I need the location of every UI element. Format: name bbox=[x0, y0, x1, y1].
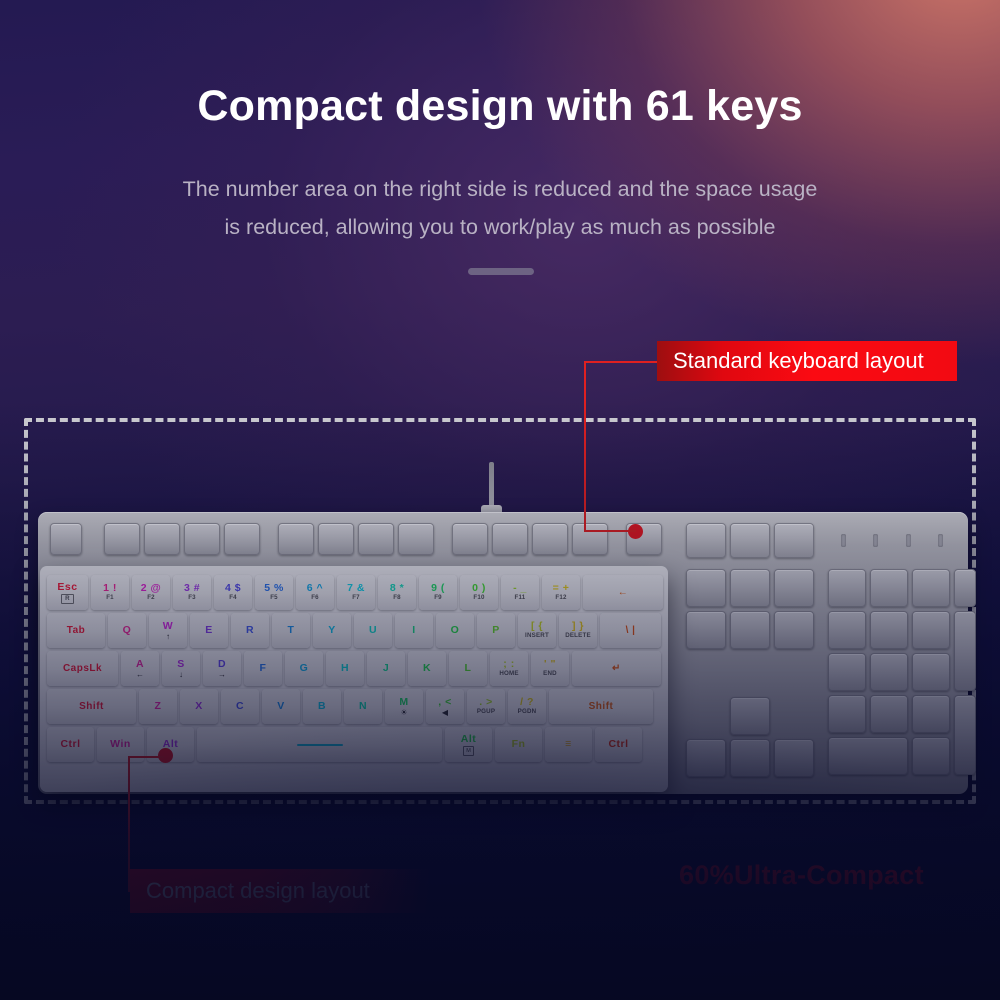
row-caps: CapsLkA←S↓D→FGHJKL; :HOME' "END↵ bbox=[47, 651, 661, 686]
leader-line-standard-vertical bbox=[584, 362, 586, 532]
key-space[interactable]: ← bbox=[583, 575, 663, 610]
gray-key-blank bbox=[318, 523, 354, 555]
key-ctrl[interactable]: Ctrl bbox=[595, 727, 642, 762]
gray-key-blank bbox=[730, 523, 770, 558]
key-primary-label: A bbox=[136, 659, 144, 670]
key-secondary-label: END bbox=[543, 670, 557, 678]
key-primary-label: [ { bbox=[531, 621, 543, 632]
key-shift[interactable]: Shift bbox=[47, 689, 136, 724]
key-primary-label: ≡ bbox=[565, 739, 572, 750]
numpad-key bbox=[870, 611, 908, 649]
key-primary-label: T bbox=[288, 625, 295, 636]
key-b[interactable]: B bbox=[303, 689, 341, 724]
numpad-key bbox=[912, 653, 950, 691]
key-primary-label: M bbox=[399, 697, 408, 708]
key-z[interactable]: Z bbox=[139, 689, 177, 724]
key-secondary-label: PGDN bbox=[518, 708, 537, 716]
numpad-key bbox=[912, 569, 950, 607]
key-secondary-label: PGUP bbox=[477, 708, 495, 716]
key-primary-label: P bbox=[492, 625, 500, 636]
gray-key-blank bbox=[774, 569, 814, 607]
key-5[interactable]: 5 %F5 bbox=[255, 575, 293, 610]
key-primary-label: ; : bbox=[503, 659, 514, 670]
key-i[interactable]: I bbox=[395, 613, 433, 648]
key-secondary-label: R bbox=[61, 594, 74, 604]
leader-line-standard-horizontal bbox=[584, 361, 659, 363]
key-1[interactable]: 1 !F1 bbox=[91, 575, 129, 610]
key-r[interactable]: R bbox=[231, 613, 269, 648]
led-indicator bbox=[873, 534, 878, 547]
key-k[interactable]: K bbox=[408, 651, 446, 686]
numpad-key-enter bbox=[954, 695, 976, 775]
callout-standard-keyboard-layout[interactable]: Standard keyboard layout bbox=[657, 341, 957, 381]
gray-key-blank bbox=[184, 523, 220, 555]
key-primary-label: 8 * bbox=[390, 583, 404, 594]
key-primary-label: I bbox=[412, 625, 415, 636]
key-ctrl[interactable]: Ctrl bbox=[47, 727, 94, 762]
gray-key-blank bbox=[358, 523, 394, 555]
gray-key-blank bbox=[686, 569, 726, 607]
key-secondary-label: F4 bbox=[229, 594, 237, 602]
page-subtitle: The number area on the right side is red… bbox=[0, 170, 1000, 246]
key-primary-label: W bbox=[163, 621, 173, 632]
gray-key-blank bbox=[532, 523, 568, 555]
key-8[interactable]: 8 *F8 bbox=[378, 575, 416, 610]
subtitle-line-1: The number area on the right side is red… bbox=[0, 170, 1000, 208]
key-space[interactable]: ↵ bbox=[572, 651, 661, 686]
key-primary-label: N bbox=[359, 701, 367, 712]
led-indicator bbox=[841, 534, 846, 547]
key-l[interactable]: L bbox=[449, 651, 487, 686]
key-2[interactable]: 2 @F2 bbox=[132, 575, 170, 610]
key-primary-label: - _ bbox=[513, 583, 527, 594]
key-primary-label: Tab bbox=[67, 625, 86, 636]
key-primary-label: ' " bbox=[544, 659, 556, 670]
gray-key-blank bbox=[730, 569, 770, 607]
key-boxed-sublabel: M bbox=[463, 746, 474, 756]
key-primary-label: D bbox=[218, 659, 226, 670]
keycap-grid: EscR1 !F12 @F23 #F34 $F45 %F56 ^F67 &F78… bbox=[47, 573, 661, 785]
numpad-key bbox=[828, 569, 866, 607]
ultra-compact-label: 60%Ultra-Compact bbox=[679, 860, 924, 891]
key-primary-label: K bbox=[423, 663, 431, 674]
key-secondary-label: F1 bbox=[106, 594, 114, 602]
key-o[interactable]: O bbox=[436, 613, 474, 648]
key-space[interactable]: . >PGUP bbox=[467, 689, 505, 724]
gray-key-arrow-right bbox=[774, 739, 814, 777]
gray-key-blank bbox=[50, 523, 82, 555]
key-primary-label: Alt bbox=[461, 734, 477, 745]
key-tab[interactable]: Tab bbox=[47, 613, 105, 648]
key-space[interactable]: ' "END bbox=[531, 651, 569, 686]
callout-compact-label: Compact design layout bbox=[146, 878, 370, 904]
key-t[interactable]: T bbox=[272, 613, 310, 648]
key-g[interactable]: G bbox=[285, 651, 323, 686]
key-h[interactable]: H bbox=[326, 651, 364, 686]
gray-key-blank bbox=[144, 523, 180, 555]
key-primary-label: R bbox=[246, 625, 254, 636]
compact-61-key-keyboard: EscR1 !F12 @F23 #F34 $F45 %F56 ^F67 &F78… bbox=[40, 566, 668, 792]
key-space[interactable]: ≡ bbox=[545, 727, 592, 762]
key-space[interactable]: ] }DELETE bbox=[559, 613, 597, 648]
key-space[interactable]: \ | bbox=[600, 613, 661, 648]
gray-key-blank bbox=[452, 523, 488, 555]
gray-key-blank bbox=[224, 523, 260, 555]
key-secondary-label: F9 bbox=[434, 594, 442, 602]
key-space[interactable]: = +F12 bbox=[542, 575, 580, 610]
key-m[interactable]: M☀ bbox=[385, 689, 423, 724]
key-primary-label: J bbox=[383, 663, 389, 674]
product-marketing-image: Compact design with 61 keys The number a… bbox=[0, 0, 1000, 1000]
key-4[interactable]: 4 $F4 bbox=[214, 575, 252, 610]
key-primary-label: U bbox=[369, 625, 377, 636]
key-e[interactable]: E bbox=[190, 613, 228, 648]
key-secondary-label: F6 bbox=[311, 594, 319, 602]
numpad-key bbox=[870, 653, 908, 691]
key-9[interactable]: 9 (F9 bbox=[419, 575, 457, 610]
row-shift: ShiftZXCVBNM☀, <◀. >PGUP/ ?PGDNShift bbox=[47, 689, 653, 724]
row-number: EscR1 !F12 @F23 #F34 $F45 %F56 ^F67 &F78… bbox=[47, 575, 663, 610]
key-primary-label: L bbox=[465, 663, 472, 674]
key-u[interactable]: U bbox=[354, 613, 392, 648]
key-space[interactable]: / ?PGDN bbox=[508, 689, 546, 724]
key-6[interactable]: 6 ^F6 bbox=[296, 575, 334, 610]
key-primary-label: B bbox=[318, 701, 326, 712]
gray-key-arrow-left bbox=[686, 739, 726, 777]
numpad-key-zero bbox=[828, 737, 908, 775]
numpad-key bbox=[954, 569, 976, 607]
key-secondary-label: F5 bbox=[270, 594, 278, 602]
key-space[interactable]: [ {INSERT bbox=[518, 613, 556, 648]
spacebar-indicator bbox=[297, 744, 343, 746]
key-secondary-label: INSERT bbox=[525, 632, 549, 640]
key-secondary-glyph: ☀ bbox=[400, 708, 407, 717]
numpad-key bbox=[828, 695, 866, 733]
numpad-key bbox=[870, 695, 908, 733]
key-secondary-label: F8 bbox=[393, 594, 401, 602]
key-q[interactable]: Q bbox=[108, 613, 146, 648]
key-w[interactable]: W↑ bbox=[149, 613, 187, 648]
key-primary-label: V bbox=[277, 701, 285, 712]
key-primary-label: Ctrl bbox=[60, 739, 80, 750]
led-indicator bbox=[906, 534, 911, 547]
key-space[interactable] bbox=[197, 727, 442, 762]
callout-compact-design-layout[interactable]: Compact design layout bbox=[130, 869, 430, 913]
key-secondary-label: DELETE bbox=[565, 632, 591, 640]
key-primary-label: S bbox=[177, 659, 185, 670]
key-a[interactable]: A← bbox=[121, 651, 159, 686]
key-primary-label: ← bbox=[618, 587, 629, 598]
key-secondary-glyph: → bbox=[218, 670, 226, 679]
key-primary-label: 2 @ bbox=[141, 583, 162, 594]
numpad-key-dot bbox=[912, 737, 950, 775]
numpad-key bbox=[912, 695, 950, 733]
key-primary-label: . > bbox=[479, 697, 492, 708]
numpad-key bbox=[912, 611, 950, 649]
key-3[interactable]: 3 #F3 bbox=[173, 575, 211, 610]
gray-key-blank bbox=[774, 523, 814, 558]
key-secondary-label: F7 bbox=[352, 594, 360, 602]
led-indicator bbox=[938, 534, 943, 547]
key-primary-label: 6 ^ bbox=[307, 583, 323, 594]
gray-key-blank bbox=[774, 611, 814, 649]
key-primary-label: Q bbox=[123, 625, 132, 636]
gray-key-blank bbox=[572, 523, 608, 555]
key-y[interactable]: Y bbox=[313, 613, 351, 648]
key-secondary-label: F2 bbox=[147, 594, 155, 602]
key-fn[interactable]: Fn bbox=[495, 727, 542, 762]
key-primary-label: Win bbox=[110, 739, 131, 750]
key-primary-label: / ? bbox=[520, 697, 534, 708]
key-secondary-label: F10 bbox=[473, 594, 484, 602]
key-v[interactable]: V bbox=[262, 689, 300, 724]
key-secondary-glyph: ← bbox=[136, 670, 144, 679]
key-0[interactable]: 0 )F10 bbox=[460, 575, 498, 610]
key-n[interactable]: N bbox=[344, 689, 382, 724]
numpad-key bbox=[828, 611, 866, 649]
gray-key-blank bbox=[492, 523, 528, 555]
key-secondary-glyph: ↑ bbox=[166, 632, 170, 641]
key-primary-label: C bbox=[236, 701, 244, 712]
key-space[interactable]: - _F11 bbox=[501, 575, 539, 610]
key-primary-label: Y bbox=[328, 625, 336, 636]
key-s[interactable]: S↓ bbox=[162, 651, 200, 686]
key-f[interactable]: F bbox=[244, 651, 282, 686]
key-c[interactable]: C bbox=[221, 689, 259, 724]
key-primary-label: 7 & bbox=[347, 583, 365, 594]
gray-key-arrow-down bbox=[730, 739, 770, 777]
leader-line-standard-to-dot bbox=[584, 530, 636, 532]
gray-key-arrow-up bbox=[730, 697, 770, 735]
key-capslk[interactable]: CapsLk bbox=[47, 651, 118, 686]
gray-key-blank bbox=[398, 523, 434, 555]
leader-line-compact-to-dot bbox=[128, 756, 164, 758]
key-primary-label: , < bbox=[438, 697, 451, 708]
key-x[interactable]: X bbox=[180, 689, 218, 724]
key-primary-label: X bbox=[195, 701, 203, 712]
gray-key-blank bbox=[730, 611, 770, 649]
key-d[interactable]: D→ bbox=[203, 651, 241, 686]
numpad-key bbox=[870, 569, 908, 607]
key-primary-label: 5 % bbox=[264, 583, 284, 594]
key-primary-label: Z bbox=[155, 701, 162, 712]
gray-key-blank bbox=[686, 611, 726, 649]
key-primary-label: ↵ bbox=[612, 663, 621, 674]
key-secondary-glyph: ↓ bbox=[179, 670, 183, 679]
key-space[interactable]: ; :HOME bbox=[490, 651, 528, 686]
key-secondary-label: F11 bbox=[515, 594, 526, 602]
key-space[interactable]: , <◀ bbox=[426, 689, 464, 724]
key-primary-label: 0 ) bbox=[472, 583, 486, 594]
key-primary-label: Shift bbox=[79, 701, 104, 712]
key-secondary-label: F12 bbox=[555, 594, 566, 602]
marker-dot-standard-layout bbox=[628, 524, 643, 539]
key-primary-label: G bbox=[300, 663, 309, 674]
key-primary-label: Fn bbox=[512, 739, 526, 750]
key-primary-label: 9 ( bbox=[431, 583, 445, 594]
key-primary-label: H bbox=[341, 663, 349, 674]
key-primary-label: O bbox=[451, 625, 460, 636]
key-primary-label: F bbox=[260, 663, 267, 674]
key-primary-label: \ | bbox=[626, 625, 636, 636]
key-esc[interactable]: EscR bbox=[47, 575, 88, 610]
key-primary-label: Shift bbox=[589, 701, 614, 712]
section-divider bbox=[468, 268, 534, 275]
key-secondary-glyph: ◀ bbox=[442, 708, 448, 717]
key-alt[interactable]: AltM bbox=[445, 727, 492, 762]
key-j[interactable]: J bbox=[367, 651, 405, 686]
key-primary-label: 4 $ bbox=[225, 583, 241, 594]
gray-key-blank bbox=[104, 523, 140, 555]
key-primary-label: Esc bbox=[57, 582, 77, 593]
key-7[interactable]: 7 &F7 bbox=[337, 575, 375, 610]
key-primary-label: 3 # bbox=[184, 583, 200, 594]
key-primary-label: 1 ! bbox=[103, 583, 117, 594]
numpad-key-plus bbox=[954, 611, 976, 691]
key-secondary-label: HOME bbox=[499, 670, 518, 678]
key-primary-label: CapsLk bbox=[63, 663, 102, 674]
key-primary-label: = + bbox=[553, 583, 570, 594]
key-primary-label: Ctrl bbox=[608, 739, 628, 750]
key-secondary-label: F3 bbox=[188, 594, 196, 602]
key-primary-label: ] } bbox=[572, 621, 584, 632]
subtitle-line-2: is reduced, allowing you to work/play as… bbox=[0, 208, 1000, 246]
key-p[interactable]: P bbox=[477, 613, 515, 648]
gray-key-blank bbox=[686, 523, 726, 558]
numpad-key bbox=[828, 653, 866, 691]
page-title: Compact design with 61 keys bbox=[0, 82, 1000, 131]
row-tab: TabQW↑ERTYUIOP[ {INSERT] }DELETE\ | bbox=[47, 613, 661, 648]
key-primary-label: E bbox=[205, 625, 213, 636]
gray-key-blank bbox=[278, 523, 314, 555]
key-shift[interactable]: Shift bbox=[549, 689, 653, 724]
callout-standard-label: Standard keyboard layout bbox=[673, 348, 924, 374]
